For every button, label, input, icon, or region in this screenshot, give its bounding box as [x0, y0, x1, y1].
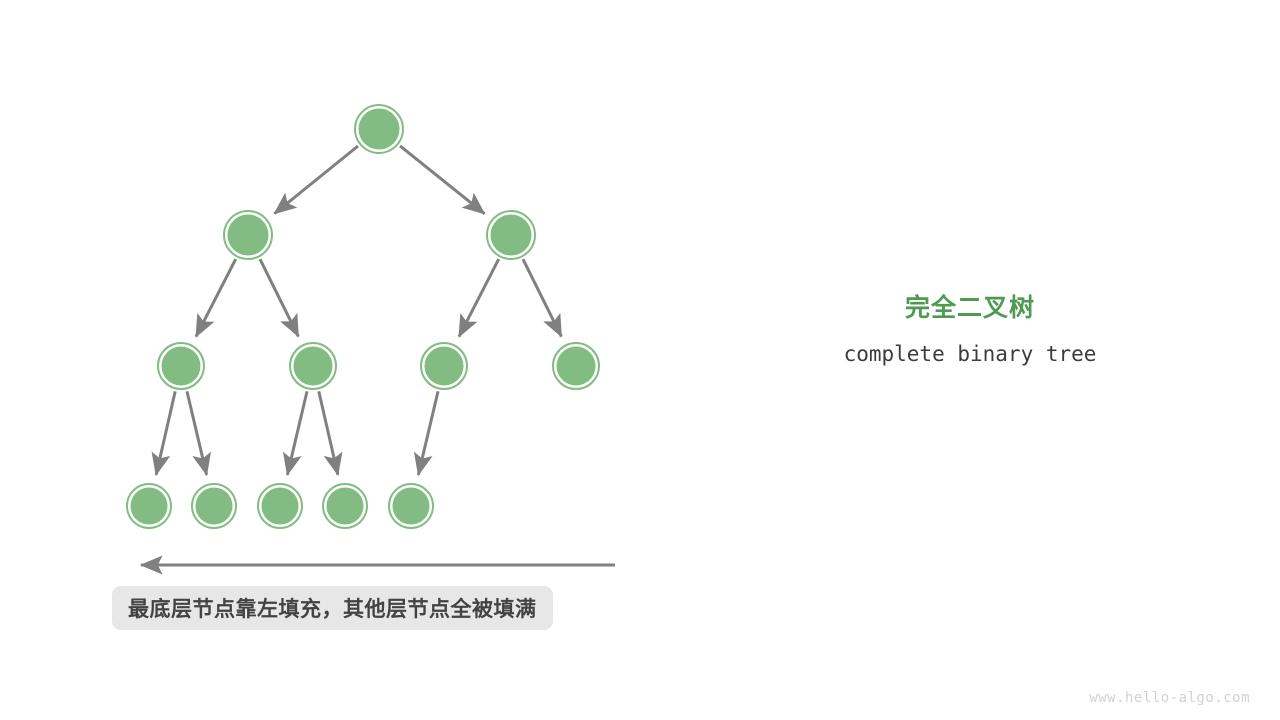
node-core — [294, 347, 333, 386]
node-core — [393, 488, 430, 525]
node-core — [196, 488, 233, 525]
node-core — [228, 215, 269, 256]
tree-node — [258, 484, 302, 528]
legend: 完全二叉树 complete binary tree — [760, 292, 1180, 367]
tree-edge — [187, 391, 207, 475]
tree-node — [487, 211, 535, 259]
tree-edge — [459, 259, 499, 337]
tree-edge — [418, 391, 438, 475]
tree-edge — [274, 146, 358, 214]
legend-subtitle: complete binary tree — [760, 341, 1180, 367]
tree-edges — [156, 146, 561, 475]
diagram-canvas: 完全二叉树 complete binary tree 最底层节点靠左填充，其他层… — [0, 0, 1280, 720]
legend-title: 完全二叉树 — [760, 292, 1180, 324]
tree-edge — [156, 391, 175, 474]
tree-edge — [400, 146, 484, 214]
tree-node — [224, 211, 272, 259]
node-core — [262, 488, 299, 525]
node-core — [557, 347, 596, 386]
tree-nodes — [127, 105, 599, 528]
tree-node — [127, 484, 171, 528]
tree-edge — [287, 391, 307, 475]
node-core — [359, 109, 400, 150]
tree-node — [323, 484, 367, 528]
node-core — [131, 488, 168, 525]
tree-node — [421, 343, 467, 389]
tree-edge — [260, 259, 298, 336]
tree-node — [192, 484, 236, 528]
caption-text: 最底层节点靠左填充，其他层节点全被填满 — [128, 593, 537, 623]
caption-box: 最底层节点靠左填充，其他层节点全被填满 — [112, 586, 553, 630]
tree-node — [290, 343, 336, 389]
tree-node — [158, 343, 204, 389]
node-core — [162, 347, 201, 386]
tree-edge — [196, 259, 236, 337]
tree-edge — [523, 259, 561, 336]
node-core — [327, 488, 364, 525]
node-core — [491, 215, 532, 256]
tree-node — [553, 343, 599, 389]
tree-node — [355, 105, 403, 153]
watermark: www.hello-algo.com — [1089, 690, 1250, 706]
tree-node — [389, 484, 433, 528]
node-core — [425, 347, 464, 386]
tree-edge — [319, 391, 338, 474]
